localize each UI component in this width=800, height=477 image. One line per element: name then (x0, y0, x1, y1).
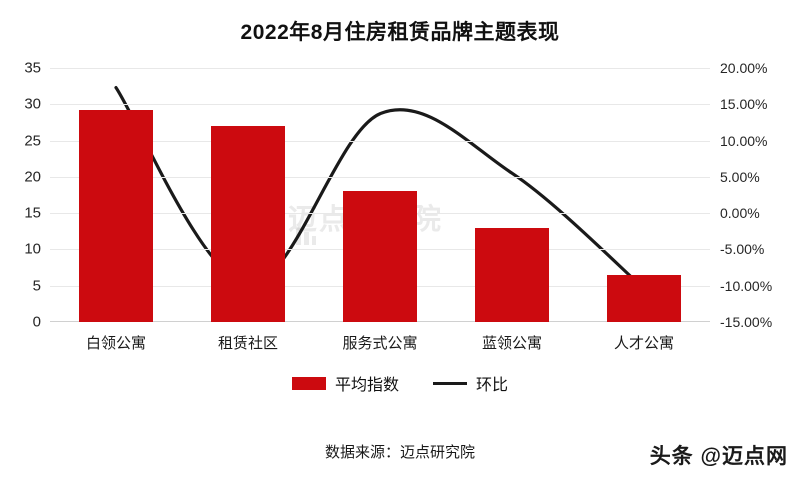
legend-item-average-index[interactable]: 平均指数 (292, 371, 399, 395)
y-axis-left-tick: 20 (1, 168, 41, 185)
brand-credit: 头条 @迈点网 (650, 440, 788, 470)
y-axis-left-tick: 30 (1, 96, 41, 113)
bar-白领公寓[interactable] (79, 110, 153, 322)
chart-title: 2022年8月住房租赁品牌主题表现 (0, 16, 800, 46)
y-axis-right-tick: -10.00% (720, 278, 792, 294)
legend-label-average-index: 平均指数 (335, 371, 399, 395)
x-axis-label-租赁社区: 租赁社区 (218, 332, 278, 353)
chart-legend: 平均指数 环比 (0, 371, 800, 395)
legend-label-mom-ratio: 环比 (476, 371, 508, 395)
x-axis-label-服务式公寓: 服务式公寓 (342, 332, 417, 353)
y-axis-right-tick: 20.00% (720, 60, 792, 76)
plot-area: 05101520253035-15.00%-10.00%-5.00%0.00%5… (50, 68, 710, 322)
x-axis-label-蓝领公寓: 蓝领公寓 (482, 332, 542, 353)
chart-container: 2022年8月住房租赁品牌主题表现 迈点研究院 05101520253035-1… (0, 0, 800, 477)
x-axis-label-白领公寓: 白领公寓 (86, 332, 146, 353)
y-axis-left-tick: 5 (1, 277, 41, 294)
y-axis-right-tick: 15.00% (720, 96, 792, 112)
y-axis-right-tick: -5.00% (720, 241, 792, 257)
bar-服务式公寓[interactable] (343, 191, 417, 322)
bar-人才公寓[interactable] (607, 275, 681, 322)
gridline (50, 104, 710, 105)
y-axis-right-tick: 10.00% (720, 133, 792, 149)
legend-bar-swatch-icon (292, 377, 326, 390)
bar-蓝领公寓[interactable] (475, 228, 549, 322)
legend-item-mom-ratio[interactable]: 环比 (433, 371, 508, 395)
y-axis-right-tick: -15.00% (720, 314, 792, 330)
y-axis-right-tick: 5.00% (720, 169, 792, 185)
gridline (50, 68, 710, 69)
y-axis-left-tick: 25 (1, 132, 41, 149)
x-axis-label-人才公寓: 人才公寓 (614, 332, 674, 353)
y-axis-left-tick: 0 (1, 314, 41, 331)
y-axis-left-tick: 10 (1, 241, 41, 258)
legend-line-swatch-icon (433, 382, 467, 385)
y-axis-left-tick: 15 (1, 205, 41, 222)
y-axis-right-tick: 0.00% (720, 205, 792, 221)
bar-租赁社区[interactable] (211, 126, 285, 322)
y-axis-left-tick: 35 (1, 60, 41, 77)
